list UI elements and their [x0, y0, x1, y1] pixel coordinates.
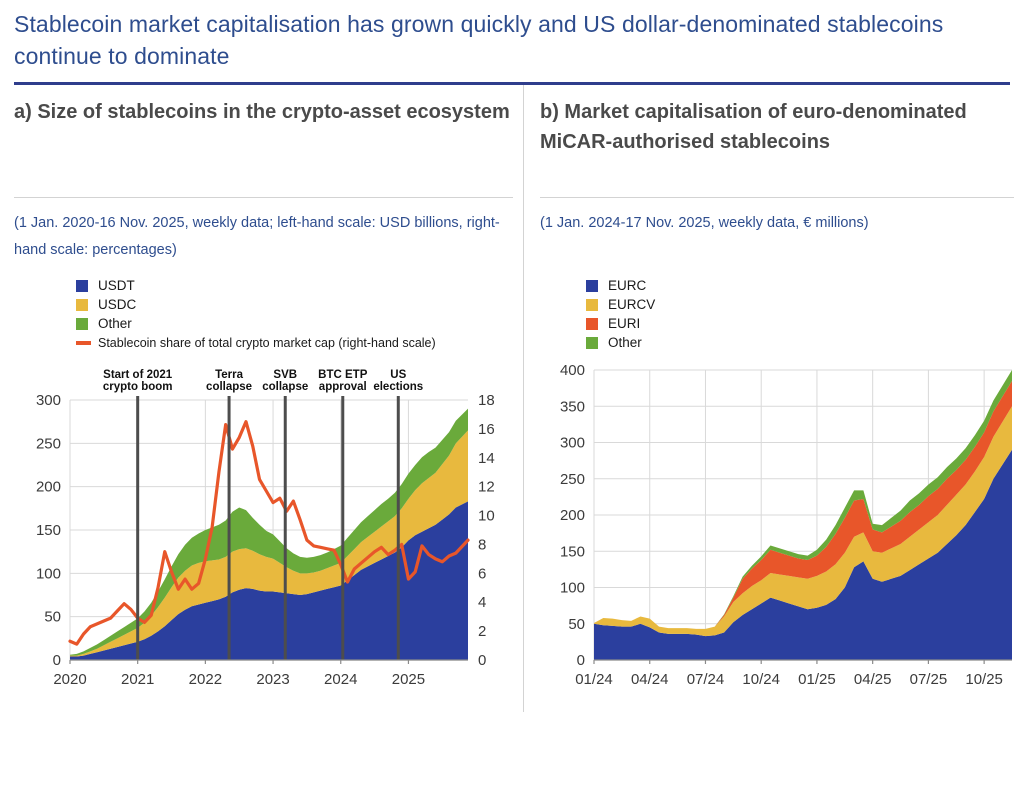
- y-axis-tick: 200: [560, 507, 585, 524]
- x-axis-tick-label: 2024: [324, 671, 357, 688]
- y-axis-tick-right: 14: [478, 450, 495, 467]
- panel-a-legend: USDT USDC Other Stablecoin share of tota…: [14, 276, 513, 352]
- legend-label-eurc: EURC: [608, 278, 646, 293]
- legend-item-euri: EURI: [586, 314, 1014, 333]
- y-axis-tick: 0: [577, 652, 585, 669]
- legend-swatch-other: [76, 318, 88, 330]
- x-axis-tick-label: 04/24: [631, 671, 669, 688]
- panel-b-legend: EURC EURCV EURI Other: [540, 276, 1014, 352]
- x-axis-tick-label: 10/25: [965, 671, 1003, 688]
- event-label-1: Terra: [215, 369, 244, 381]
- legend-swatch-euri: [586, 318, 598, 330]
- panel-b: b) Market capitalisation of euro-denomin…: [523, 85, 1024, 712]
- y-axis-tick-left: 0: [53, 652, 61, 669]
- x-axis-tick-label: 2022: [189, 671, 222, 688]
- y-axis-tick-right: 4: [478, 594, 486, 611]
- y-axis-tick: 300: [560, 435, 585, 452]
- legend-item-usdc: USDC: [76, 295, 513, 314]
- legend-label-usdc: USDC: [98, 297, 136, 312]
- y-axis-tick: 350: [560, 398, 585, 415]
- x-axis-tick-label: 07/24: [687, 671, 725, 688]
- y-axis-tick-left: 50: [44, 609, 61, 626]
- event-label-3: approval: [319, 381, 367, 393]
- y-axis-tick-right: 16: [478, 421, 495, 438]
- legend-swatch-other-b: [586, 337, 598, 349]
- legend-swatch-usdt: [76, 280, 88, 292]
- event-label-1: collapse: [206, 381, 252, 393]
- legend-label-other: Other: [98, 316, 132, 331]
- legend-item-eurc: EURC: [586, 276, 1014, 295]
- y-axis-tick-right: 18: [478, 392, 495, 409]
- y-axis-tick-right: 8: [478, 536, 486, 553]
- y-axis-tick-right: 6: [478, 565, 486, 582]
- event-label-4: US: [390, 369, 406, 381]
- event-label-2: collapse: [262, 381, 308, 393]
- x-axis-tick-label: 01/24: [575, 671, 613, 688]
- legend-swatch-usdc: [76, 299, 88, 311]
- legend-label-share-line: Stablecoin share of total crypto market …: [98, 336, 436, 350]
- legend-item-other: Other: [76, 314, 513, 333]
- legend-swatch-share-line: [76, 341, 91, 345]
- y-axis-tick-left: 150: [36, 522, 61, 539]
- y-axis-tick-left: 300: [36, 392, 61, 409]
- y-axis-tick: 100: [560, 580, 585, 597]
- x-axis-tick-label: 04/25: [854, 671, 892, 688]
- legend-label-usdt: USDT: [98, 278, 135, 293]
- legend-label-other-b: Other: [608, 335, 642, 350]
- event-label-0: Start of 2021: [103, 369, 173, 381]
- x-axis-tick-label: 10/24: [742, 671, 780, 688]
- legend-swatch-eurc: [586, 280, 598, 292]
- y-axis-tick-right: 2: [478, 623, 486, 640]
- y-axis-tick-left: 250: [36, 435, 61, 452]
- x-axis-tick-label: 01/25: [798, 671, 836, 688]
- event-label-3: BTC ETP: [318, 369, 368, 381]
- panel-b-subtitle: (1 Jan. 2024-17 Nov. 2025, weekly data, …: [540, 198, 1014, 270]
- legend-label-eurcv: EURCV: [608, 297, 655, 312]
- y-axis-tick-right: 0: [478, 652, 486, 669]
- y-axis-tick: 400: [560, 362, 585, 379]
- legend-swatch-eurcv: [586, 299, 598, 311]
- y-axis-tick-left: 100: [36, 565, 61, 582]
- x-axis-tick-label: 2021: [121, 671, 154, 688]
- panel-a-heading: a) Size of stablecoins in the crypto-ass…: [14, 85, 513, 197]
- panel-a-chart: Start of 2021crypto boomTerracollapseSVB…: [14, 352, 513, 712]
- x-axis-tick-label: 07/25: [910, 671, 948, 688]
- y-axis-tick-left: 200: [36, 479, 61, 496]
- y-axis-tick: 50: [568, 616, 585, 633]
- title-block: Stablecoin market capitalisation has gro…: [0, 0, 1024, 72]
- x-axis-tick-label: 2025: [392, 671, 425, 688]
- legend-item-share-line: Stablecoin share of total crypto market …: [76, 333, 513, 352]
- page-title: Stablecoin market capitalisation has gro…: [14, 8, 1010, 72]
- panel-a-subtitle: (1 Jan. 2020-16 Nov. 2025, weekly data; …: [14, 198, 513, 270]
- legend-label-euri: EURI: [608, 316, 640, 331]
- x-axis-tick-label: 2023: [256, 671, 289, 688]
- figure-page: Stablecoin market capitalisation has gro…: [0, 0, 1024, 807]
- y-axis-tick: 250: [560, 471, 585, 488]
- panel-a-svg: Start of 2021crypto boomTerracollapseSVB…: [14, 352, 524, 712]
- event-label-4: elections: [373, 381, 423, 393]
- event-label-2: SVB: [273, 369, 297, 381]
- x-axis-tick-label: 2020: [53, 671, 86, 688]
- y-axis-tick-right: 12: [478, 479, 495, 496]
- panel-b-chart: 05010015020025030035040001/2404/2407/241…: [540, 352, 1014, 712]
- panels-container: a) Size of stablecoins in the crypto-ass…: [0, 85, 1024, 712]
- legend-item-usdt: USDT: [76, 276, 513, 295]
- y-axis-tick: 150: [560, 543, 585, 560]
- legend-item-other-b: Other: [586, 333, 1014, 352]
- panel-b-svg: 05010015020025030035040001/2404/2407/241…: [540, 352, 1020, 712]
- event-label-0: crypto boom: [103, 381, 173, 393]
- panel-a: a) Size of stablecoins in the crypto-ass…: [0, 85, 523, 712]
- y-axis-tick-right: 10: [478, 508, 495, 525]
- panel-b-heading: b) Market capitalisation of euro-denomin…: [540, 85, 1014, 197]
- legend-item-eurcv: EURCV: [586, 295, 1014, 314]
